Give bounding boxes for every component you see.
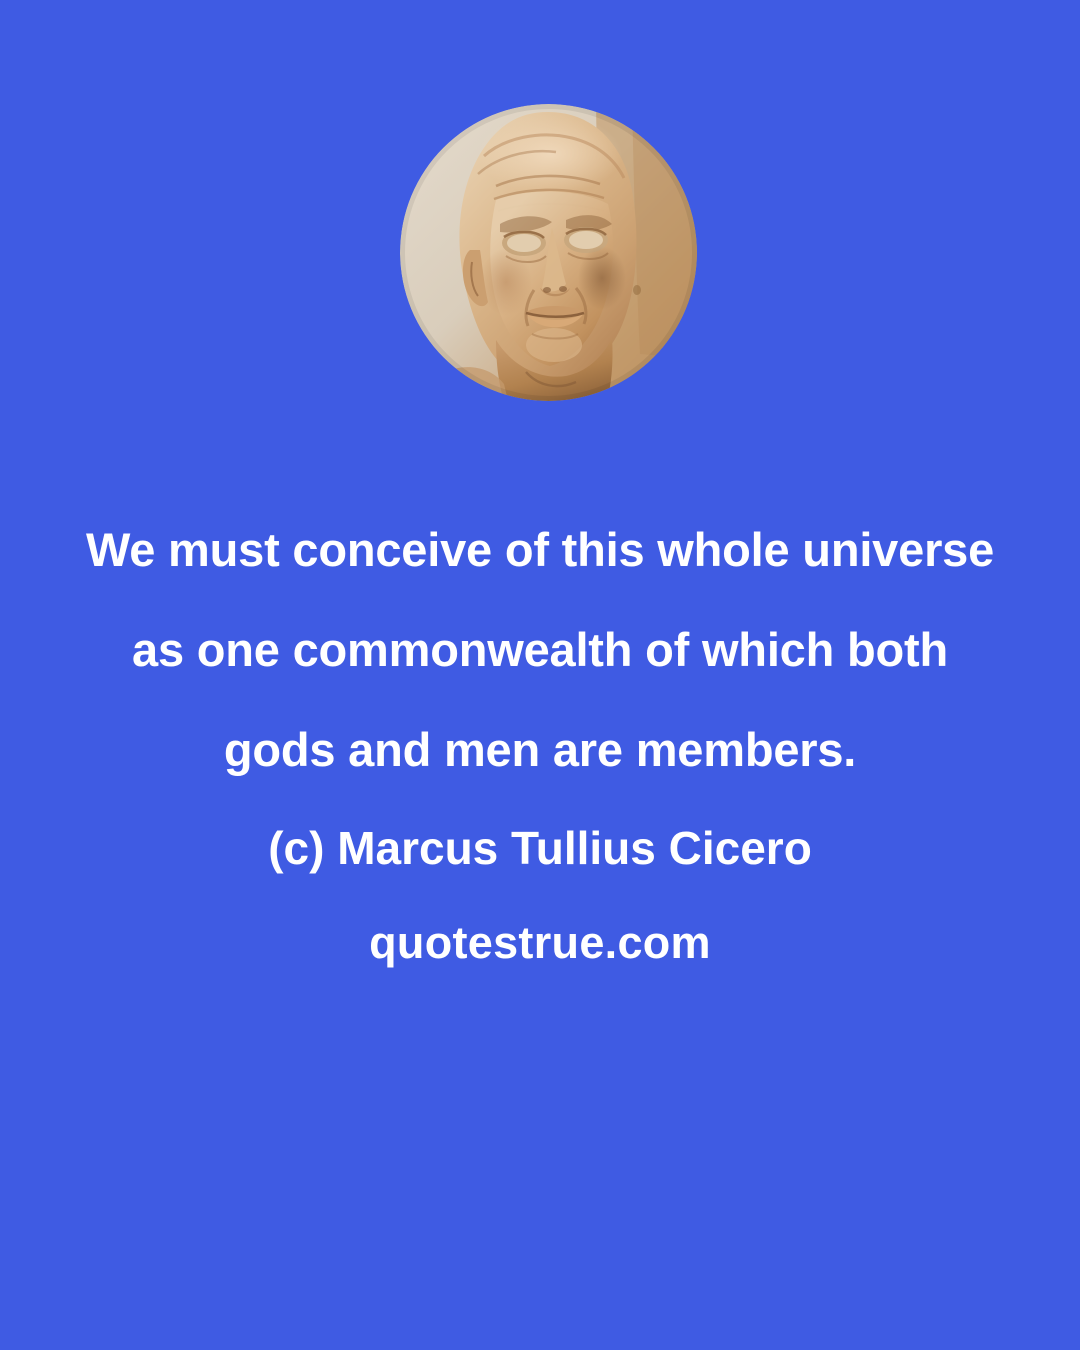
quote-text-block: We must conceive of this whole universe … xyxy=(0,500,1080,990)
nostril-left xyxy=(543,287,551,293)
cicero-bust-portrait-icon xyxy=(400,104,697,401)
quote-attribution: (c) Marcus Tullius Cicero xyxy=(0,800,1080,896)
nostril-right xyxy=(559,286,567,292)
cheek-shadow-left xyxy=(480,248,532,316)
quote-line-2: as one commonwealth of which both xyxy=(0,600,1080,700)
eye-right xyxy=(569,231,603,249)
author-portrait xyxy=(400,104,697,401)
quote-card: We must conceive of this whole universe … xyxy=(0,0,1080,1350)
chin xyxy=(526,328,582,362)
cranium-highlight xyxy=(478,114,622,194)
website-credit: quotestrue.com xyxy=(0,896,1080,990)
backdrop-speck xyxy=(633,285,641,295)
quote-line-3: gods and men are members. xyxy=(0,700,1080,800)
quote-line-1: We must conceive of this whole universe xyxy=(0,500,1080,600)
cheek-shadow-right xyxy=(578,246,626,310)
